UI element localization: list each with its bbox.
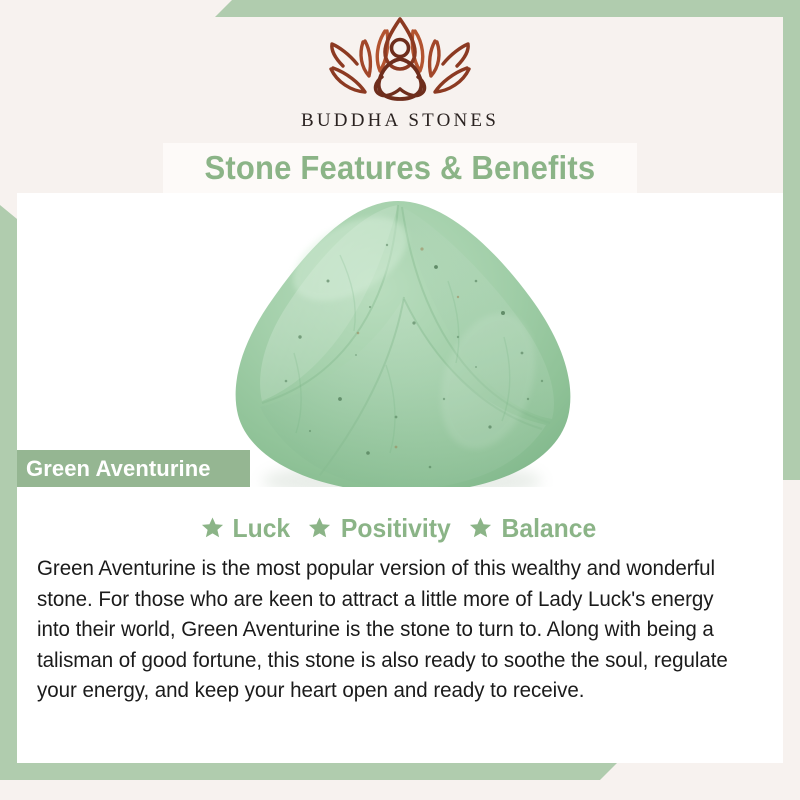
star-icon: [201, 516, 224, 541]
stone-name-label: Green Aventurine: [26, 456, 211, 482]
frame-bottom-bar: [0, 763, 617, 780]
brand-header: BUDDHA STONES: [0, 14, 800, 144]
star-icon: [308, 516, 331, 541]
green-aventurine-stone-photo: [190, 193, 610, 487]
page-title: Stone Features & Benefits: [205, 149, 596, 187]
keyword-label: Luck: [233, 513, 291, 544]
keyword-label: Positivity: [341, 513, 451, 544]
hero-image: [17, 193, 783, 487]
keyword-item-balance: Balance: [469, 513, 599, 544]
title-banner: Stone Features & Benefits: [163, 143, 637, 193]
keyword-item-positivity: Positivity: [308, 513, 454, 544]
keyword-label: Balance: [502, 513, 597, 544]
infographic-page: BUDDHA STONES Stone Features & Benefits: [0, 0, 800, 800]
frame-left-bar: [0, 205, 17, 780]
lotus-meditation-icon: [315, 14, 485, 106]
brand-name: BUDDHA STONES: [301, 110, 499, 132]
keyword-row: Luck Positivity Balance: [17, 487, 783, 544]
content-panel: Luck Positivity Balance Green: [17, 487, 783, 763]
description-paragraph: Green Aventurine is the most popular ver…: [37, 553, 738, 706]
star-icon: [469, 516, 492, 541]
keyword-item-luck: Luck: [201, 513, 292, 544]
stone-name-band: Green Aventurine: [17, 450, 250, 487]
